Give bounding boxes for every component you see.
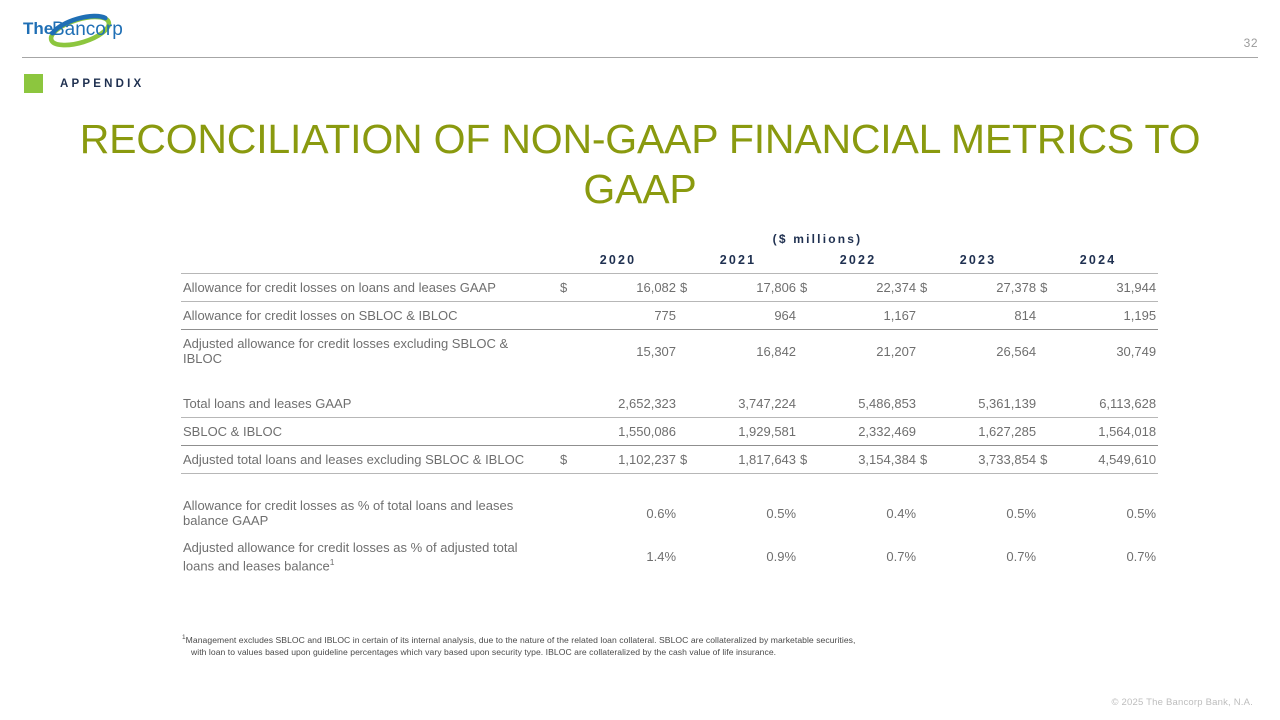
table-row: SBLOC & IBLOC 1,550,086 1,929,581 2,332,… — [181, 418, 1158, 446]
currency-spacer — [798, 492, 820, 534]
currency-spacer — [678, 418, 700, 446]
row-label-text: Adjusted allowance for credit losses as … — [183, 540, 518, 573]
cell-2023: 3,733,854 — [940, 446, 1038, 474]
section-label-text: APPENDIX — [60, 78, 144, 90]
table-row: Adjusted allowance for credit losses as … — [181, 534, 1158, 579]
cell-2021: 16,842 — [700, 330, 798, 373]
cell-2023: 0.7% — [940, 534, 1038, 579]
currency-spacer — [558, 302, 580, 330]
cell-2020: 16,082 — [580, 274, 678, 302]
row-label: Total loans and leases GAAP — [181, 390, 558, 418]
table-header-row: 2020 2021 2022 2023 2024 — [181, 253, 1158, 274]
cell-2023: 26,564 — [940, 330, 1038, 373]
copyright-text: © 2025 The Bancorp Bank, N.A. — [1112, 697, 1253, 708]
row-label: Allowance for credit losses on SBLOC & I… — [181, 302, 558, 330]
currency-spacer — [678, 390, 700, 418]
cell-2022: 3,154,384 — [820, 446, 918, 474]
cell-2024: 31,944 — [1060, 274, 1158, 302]
currency-spacer — [1038, 390, 1060, 418]
cell-2022: 0.4% — [820, 492, 918, 534]
cell-2024: 0.7% — [1060, 534, 1158, 579]
svg-text:Bancorp: Bancorp — [52, 19, 123, 40]
cell-2022: 22,374 — [820, 274, 918, 302]
column-header-2021: 2021 — [678, 253, 798, 274]
table-row: Allowance for credit losses on SBLOC & I… — [181, 302, 1158, 330]
cell-2023: 0.5% — [940, 492, 1038, 534]
row-label: Adjusted total loans and leases excludin… — [181, 446, 558, 474]
currency-symbol: $ — [798, 446, 820, 474]
cell-2024: 30,749 — [1060, 330, 1158, 373]
cell-2021: 0.5% — [700, 492, 798, 534]
table-row: Adjusted total loans and leases excludin… — [181, 446, 1158, 474]
row-label: SBLOC & IBLOC — [181, 418, 558, 446]
column-header-2024: 2024 — [1038, 253, 1158, 274]
cell-2022: 21,207 — [820, 330, 918, 373]
currency-spacer — [798, 390, 820, 418]
currency-symbol: $ — [798, 274, 820, 302]
cell-2023: 814 — [940, 302, 1038, 330]
currency-symbol: $ — [678, 446, 700, 474]
currency-spacer — [918, 302, 940, 330]
column-header-2020: 2020 — [558, 253, 678, 274]
header-divider — [22, 57, 1258, 58]
currency-spacer — [558, 534, 580, 579]
currency-spacer — [918, 492, 940, 534]
cell-2020: 1,102,237 — [580, 446, 678, 474]
currency-spacer — [678, 302, 700, 330]
cell-2021: 0.9% — [700, 534, 798, 579]
footnote: 1Management excludes SBLOC and IBLOC in … — [182, 632, 1082, 659]
cell-2020: 2,652,323 — [580, 390, 678, 418]
cell-2023: 1,627,285 — [940, 418, 1038, 446]
cell-2021: 17,806 — [700, 274, 798, 302]
cell-2024: 4,549,610 — [1060, 446, 1158, 474]
footnote-marker: 1 — [330, 557, 335, 567]
currency-spacer — [558, 492, 580, 534]
cell-2023: 27,378 — [940, 274, 1038, 302]
table-row: Adjusted allowance for credit losses exc… — [181, 330, 1158, 373]
table-units-label: ($ millions) — [477, 232, 1158, 246]
page-number: 32 — [1244, 36, 1258, 50]
cell-2021: 1,817,643 — [700, 446, 798, 474]
cell-2021: 3,747,224 — [700, 390, 798, 418]
cell-2020: 15,307 — [580, 330, 678, 373]
currency-spacer — [918, 390, 940, 418]
currency-symbol: $ — [558, 446, 580, 474]
cell-2022: 0.7% — [820, 534, 918, 579]
row-spacer — [181, 474, 1158, 493]
table-row: Total loans and leases GAAP 2,652,323 3,… — [181, 390, 1158, 418]
currency-spacer — [918, 534, 940, 579]
footnote-line-1: Management excludes SBLOC and IBLOC in c… — [186, 635, 856, 645]
currency-spacer — [558, 330, 580, 373]
cell-2020: 1.4% — [580, 534, 678, 579]
slide-header: The Bancorp 32 — [0, 0, 1280, 60]
table-row: Allowance for credit losses on loans and… — [181, 274, 1158, 302]
financial-table-container: ($ millions) 2020 2021 2022 2023 2024 Al… — [181, 232, 1158, 579]
currency-spacer — [798, 302, 820, 330]
currency-spacer — [1038, 418, 1060, 446]
cell-2022: 1,167 — [820, 302, 918, 330]
currency-spacer — [918, 418, 940, 446]
currency-symbol: $ — [1038, 274, 1060, 302]
cell-2024: 1,564,018 — [1060, 418, 1158, 446]
row-label: Adjusted allowance for credit losses as … — [181, 534, 558, 579]
currency-spacer — [798, 534, 820, 579]
currency-spacer — [798, 418, 820, 446]
currency-spacer — [678, 534, 700, 579]
cell-2020: 775 — [580, 302, 678, 330]
currency-symbol: $ — [918, 274, 940, 302]
currency-spacer — [798, 330, 820, 373]
currency-spacer — [558, 418, 580, 446]
cell-2021: 964 — [700, 302, 798, 330]
currency-spacer — [918, 330, 940, 373]
section-marker-square — [24, 74, 43, 93]
cell-2020: 1,550,086 — [580, 418, 678, 446]
cell-2023: 5,361,139 — [940, 390, 1038, 418]
cell-2022: 5,486,853 — [820, 390, 918, 418]
cell-2022: 2,332,469 — [820, 418, 918, 446]
currency-spacer — [678, 492, 700, 534]
cell-2024: 0.5% — [1060, 492, 1158, 534]
currency-spacer — [678, 330, 700, 373]
table-row: Allowance for credit losses as % of tota… — [181, 492, 1158, 534]
currency-symbol: $ — [558, 274, 580, 302]
footnote-line-2: with loan to values based upon guideline… — [182, 646, 1082, 658]
cell-2020: 0.6% — [580, 492, 678, 534]
currency-spacer — [1038, 302, 1060, 330]
page-title: RECONCILIATION OF NON-GAAP FINANCIAL MET… — [66, 114, 1214, 214]
currency-spacer — [558, 390, 580, 418]
header-spacer — [181, 253, 558, 274]
currency-spacer — [1038, 330, 1060, 373]
row-label: Adjusted allowance for credit losses exc… — [181, 330, 558, 373]
reconciliation-table: 2020 2021 2022 2023 2024 Allowance for c… — [181, 253, 1158, 579]
row-label: Allowance for credit losses as % of tota… — [181, 492, 558, 534]
currency-symbol: $ — [678, 274, 700, 302]
the-bancorp-logo: The Bancorp — [22, 12, 132, 48]
column-header-2022: 2022 — [798, 253, 918, 274]
column-header-2023: 2023 — [918, 253, 1038, 274]
currency-spacer — [1038, 492, 1060, 534]
cell-2024: 1,195 — [1060, 302, 1158, 330]
row-label: Allowance for credit losses on loans and… — [181, 274, 558, 302]
currency-spacer — [1038, 534, 1060, 579]
row-spacer — [181, 372, 1158, 390]
section-label: APPENDIX — [24, 74, 144, 93]
cell-2021: 1,929,581 — [700, 418, 798, 446]
svg-text:The: The — [23, 19, 53, 38]
currency-symbol: $ — [1038, 446, 1060, 474]
currency-symbol: $ — [918, 446, 940, 474]
cell-2024: 6,113,628 — [1060, 390, 1158, 418]
